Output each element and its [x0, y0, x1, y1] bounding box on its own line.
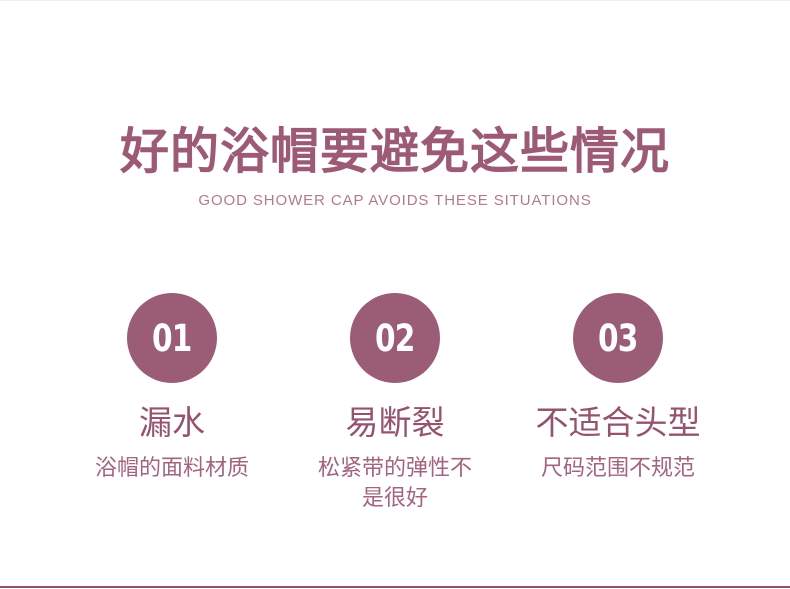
badge-number-label: 02	[375, 320, 415, 357]
list-item: 03 不适合头型 尺码范围不规范	[507, 293, 730, 483]
item-description: 尺码范围不规范	[541, 453, 695, 483]
list-item: 02 易断裂 松紧带的弹性不是很好	[284, 293, 507, 513]
badge-number-label: 03	[598, 320, 638, 357]
number-badge: 02	[350, 293, 440, 383]
badge-number-label: 01	[152, 320, 192, 357]
item-heading: 漏水	[139, 404, 205, 442]
section-header: 好的浴帽要避免这些情况 GOOD SHOWER CAP AVOIDS THESE…	[0, 124, 790, 210]
item-description: 浴帽的面料材质	[95, 453, 249, 483]
top-divider	[0, 0, 790, 1]
number-badge: 03	[573, 293, 663, 383]
bottom-divider	[0, 586, 790, 588]
list-item: 01 漏水 浴帽的面料材质	[61, 293, 284, 483]
item-heading: 易断裂	[346, 404, 445, 442]
item-description: 松紧带的弹性不是很好	[315, 453, 475, 513]
page-subtitle: GOOD SHOWER CAP AVOIDS THESE SITUATIONS	[0, 192, 790, 210]
page-title: 好的浴帽要避免这些情况	[0, 124, 790, 180]
item-heading: 不适合头型	[536, 404, 701, 442]
shower-cap-info-panel: 好的浴帽要避免这些情况 GOOD SHOWER CAP AVOIDS THESE…	[0, 0, 790, 589]
feature-list: 01 漏水 浴帽的面料材质 02 易断裂 松紧带的弹性不是很好 03 不适合头型…	[0, 293, 790, 513]
number-badge: 01	[127, 293, 217, 383]
